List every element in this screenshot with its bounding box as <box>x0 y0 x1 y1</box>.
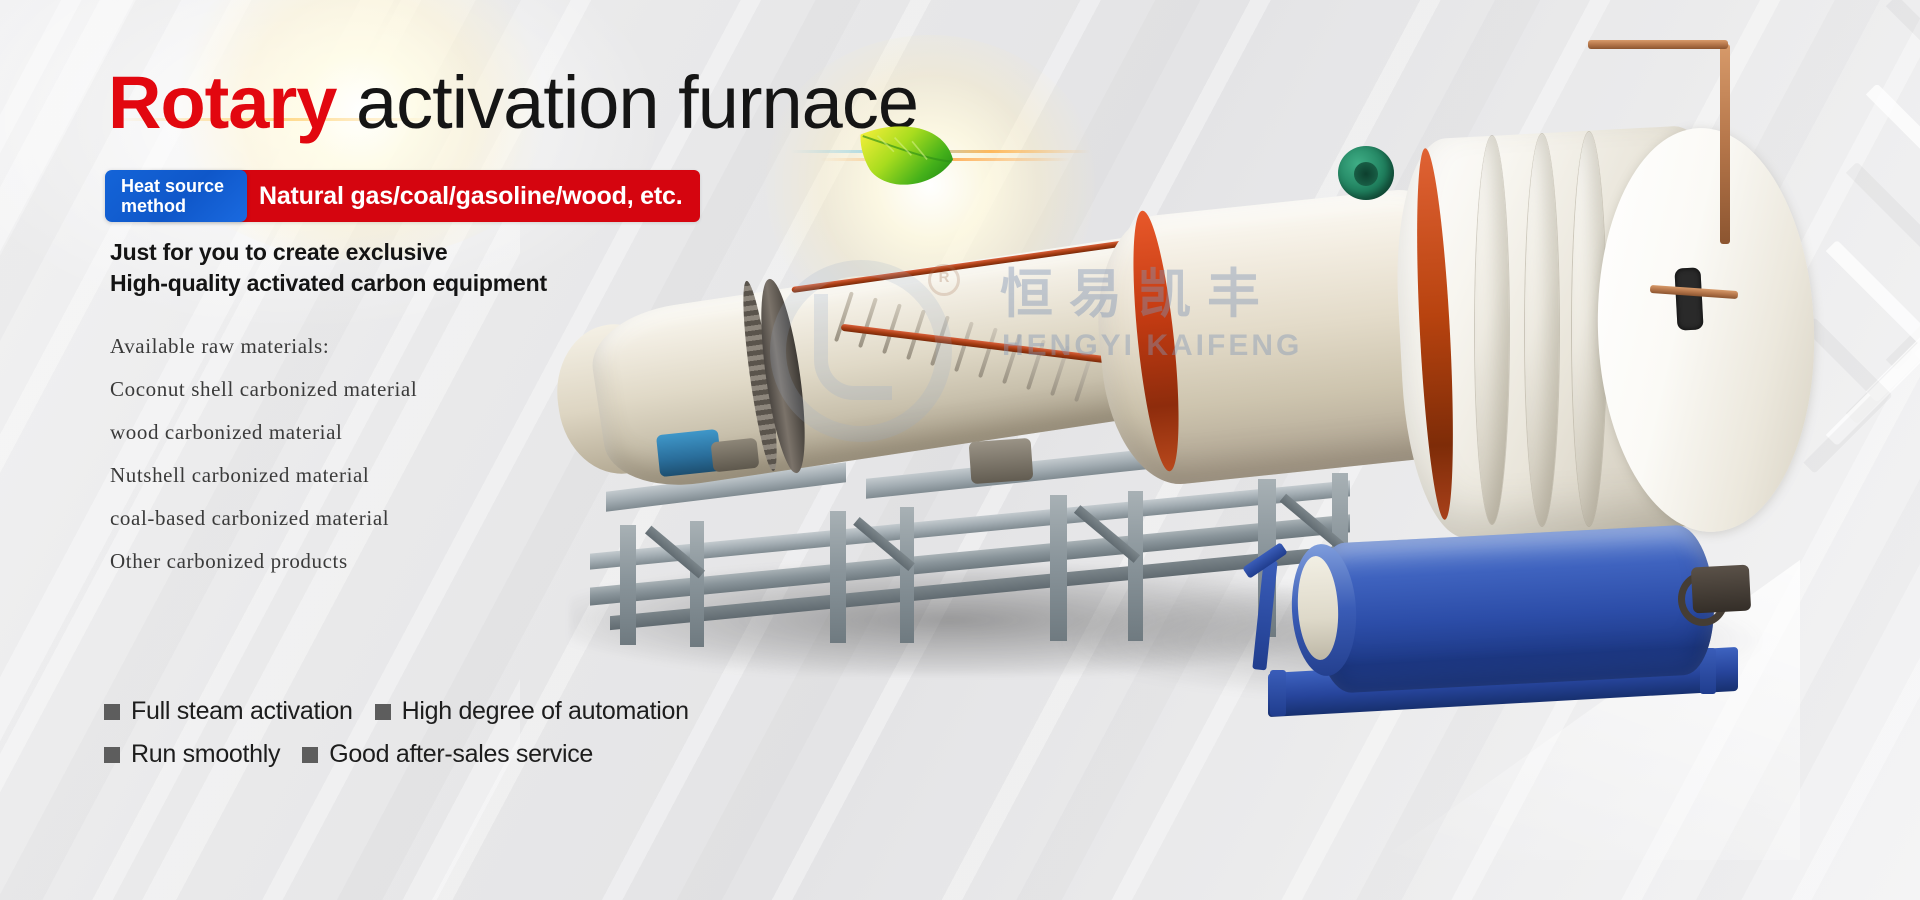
subheading-line2: High-quality activated carbon equipment <box>110 268 547 299</box>
rotary-activation-furnace-image <box>540 110 1920 730</box>
feature-label: Good after-sales service <box>329 740 593 769</box>
feature-row: Run smoothly Good after-sales service <box>104 740 689 769</box>
vessel-inlet-pipe <box>1252 560 1277 671</box>
roller-bearing <box>969 438 1034 484</box>
blower-hub-icon <box>1354 162 1378 186</box>
raw-material-item: Nutshell carbonized material <box>110 454 417 497</box>
feature-label: Run smoothly <box>131 740 280 769</box>
feature-label: High degree of automation <box>402 697 689 726</box>
raw-material-item: wood carbonized material <box>110 411 417 454</box>
feature-label: Full steam activation <box>131 697 353 726</box>
bullet-square-icon <box>375 704 391 720</box>
page-title-highlight: Rotary <box>108 61 336 144</box>
blue-pressure-vessel <box>1240 520 1800 720</box>
cooling-disc-2 <box>1525 134 1559 526</box>
bullet-square-icon <box>302 747 318 763</box>
vessel-outlet-valve <box>1691 565 1751 614</box>
raw-materials-list: Available raw materials: Coconut shell c… <box>110 325 417 583</box>
product-banner: R 恒易凯丰 HENGYI KAIFENG Rotary activation … <box>0 0 1920 900</box>
bullet-square-icon <box>104 747 120 763</box>
raw-materials-title: Available raw materials: <box>110 325 417 368</box>
vessel-shell <box>1310 524 1717 695</box>
heat-source-label: Heat source method <box>105 170 247 222</box>
copper-pipe-vertical <box>1720 44 1730 244</box>
gearbox <box>711 438 760 473</box>
feature-item: High degree of automation <box>375 697 689 726</box>
bullet-square-icon <box>104 704 120 720</box>
page-title-rest: activation furnace <box>336 61 918 144</box>
heat-source-label-line1: Heat source <box>121 176 231 196</box>
subheading: Just for you to create exclusive High-qu… <box>110 237 547 298</box>
raw-material-item: Other carbonized products <box>110 540 417 583</box>
feature-list: Full steam activation High degree of aut… <box>104 697 689 769</box>
copper-pipe-horizontal <box>1588 40 1728 49</box>
heat-source-badge: Heat source method Natural gas/coal/gaso… <box>105 170 700 222</box>
feature-item: Run smoothly <box>104 740 280 769</box>
inspection-port <box>1674 267 1703 330</box>
feature-row: Full steam activation High degree of aut… <box>104 697 689 726</box>
feature-item: Good after-sales service <box>302 740 593 769</box>
subheading-line1: Just for you to create exclusive <box>110 237 547 268</box>
heat-source-label-line2: method <box>121 196 231 216</box>
feature-item: Full steam activation <box>104 697 353 726</box>
raw-material-item: coal-based carbonized material <box>110 497 417 540</box>
cooling-disc-1 <box>1475 136 1509 524</box>
raw-material-item: Coconut shell carbonized material <box>110 368 417 411</box>
page-title: Rotary activation furnace <box>108 66 918 140</box>
